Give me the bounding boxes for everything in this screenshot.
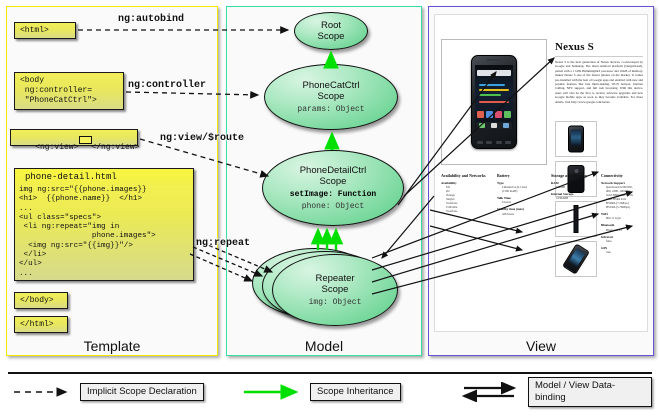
- thumbnail-phone-angled[interactable]: [555, 241, 597, 277]
- legend-label-inheritance: Scope Inheritance: [310, 383, 401, 401]
- spec-header-availability: Availability and Networks: [441, 173, 497, 178]
- spec-header-battery: Battery: [497, 173, 551, 178]
- spec-header-storage: Storage and Memory: [551, 173, 601, 178]
- screen-line-green: [479, 94, 501, 96]
- scope-member-setimage: setImage: Function: [290, 190, 376, 200]
- ngview-open-tag: <ng:view>: [35, 143, 78, 152]
- scope-root-title-2: Scope: [318, 31, 345, 42]
- edge-label-ng-repeat: ng:repeat: [196, 238, 250, 249]
- spec-value-ram: 512MB: [551, 185, 601, 189]
- legend-divider: [8, 372, 652, 374]
- legend-icon-dashed-arrow: [12, 382, 74, 402]
- phone-screen: [475, 65, 513, 129]
- screen-line-blue: [479, 84, 505, 86]
- legend-label-databinding: Model / View Data-binding: [528, 377, 652, 407]
- spec-value-gps: true: [601, 250, 647, 254]
- scope-root-title-1: Root: [321, 20, 341, 31]
- phone-hardware-keys: [475, 140, 513, 145]
- scope-phonecatctrl-title-1: PhoneCatCtrl: [302, 80, 359, 91]
- spec-value-internal-storage: 16384MB: [551, 196, 601, 200]
- scope-member-phone: phone: Object: [302, 202, 364, 212]
- code-box-body-close: </body>: [14, 292, 68, 309]
- scope-phonedetailctrl-title-2: Scope: [320, 176, 347, 187]
- scope-member-img: img: Object: [309, 298, 362, 308]
- scope-repeater-title-1: Repeater: [315, 273, 354, 284]
- panel-label-template: Template: [6, 338, 218, 354]
- scope-phonecatctrl-title-2: Scope: [318, 91, 345, 102]
- screen-line-yellow: [479, 89, 509, 91]
- code-box-html-close: </html>: [14, 316, 68, 333]
- partial-filename: phone-detail.html: [15, 169, 193, 185]
- spec-header-connectivity: Connectivity: [601, 173, 647, 178]
- phone-illustration: [471, 55, 517, 149]
- legend-item-implicit: Implicit Scope Declaration: [12, 382, 204, 402]
- edge-label-ng-controller: ng:controller: [128, 80, 206, 91]
- view-title-divider: [555, 56, 643, 57]
- legend-item-databinding: Model / View Data-binding: [460, 382, 652, 402]
- phone-search-widget: [477, 70, 511, 76]
- phone-dock: [476, 122, 512, 129]
- ngview-close-tag: </ng:view>: [91, 143, 139, 152]
- spec-value-availability: M1O2OrangeSingtelVodafoneT-MobileVodafon…: [441, 185, 497, 213]
- spec-column-connectivity: Connectivity Network Support Quad-band G…: [601, 173, 647, 254]
- phone-speaker: [487, 59, 501, 61]
- thumbnail-phone-front[interactable]: [555, 121, 597, 157]
- scope-phonedetailctrl: PhoneDetailCtrl Scope setImage: Function…: [262, 150, 404, 226]
- spec-value-network-support: Quad-band GSM 850,900, 1800, 1900 Tri-ba…: [601, 185, 647, 209]
- legend-item-inheritance: Scope Inheritance: [242, 382, 401, 402]
- legend-icon-green-arrow: [242, 382, 304, 402]
- spec-value-standby: 428 hours: [497, 212, 551, 216]
- edge-label-ng-autobind: ng:autobind: [118, 14, 184, 25]
- phone-hero-image: [441, 39, 547, 165]
- panel-label-model: Model: [226, 338, 422, 354]
- partial-file-card: phone-detail.html img ng:src="{{phone.im…: [14, 168, 194, 281]
- diagram-canvas: <html> <body ng:controller= "PhoneCatCtr…: [0, 0, 660, 420]
- spec-value-battery-type: Lithium Ion (Li-Ion)(1500 mAH): [497, 185, 551, 193]
- scope-phonedetailctrl-title-1: PhoneDetailCtrl: [300, 165, 367, 176]
- scope-root: Root Scope: [294, 12, 368, 50]
- partial-source-code: img ng:src="{{phone.images}} <h1> {{phon…: [15, 185, 193, 280]
- code-box-html-open: <html>: [14, 22, 76, 39]
- scope-repeater: Repeater Scope img: Object: [272, 254, 398, 326]
- panel-label-view: View: [428, 338, 654, 354]
- legend-label-implicit: Implicit Scope Declaration: [80, 383, 204, 401]
- spec-column-battery: Battery Type Lithium Ion (Li-Ion)(1500 m…: [497, 173, 551, 216]
- scope-repeater-title-2: Scope: [322, 284, 349, 295]
- spec-value-wifi: 802.11 b/g/n: [601, 216, 647, 220]
- scope-member-params: params: Object: [297, 105, 364, 115]
- scope-phonecatctrl: PhoneCatCtrl Scope params: Object: [264, 64, 398, 130]
- view-rendered-page: Nexus S Nexus S is the next generation o…: [434, 14, 648, 332]
- view-phone-description: Nexus S is the next generation of Nexus …: [555, 60, 643, 104]
- screen-line-red: [479, 101, 509, 103]
- phone-app-icons: [477, 111, 511, 120]
- view-phone-title: Nexus S: [555, 41, 594, 53]
- spec-value-talk-time: 6 hours: [497, 200, 551, 204]
- code-box-body-open: <body ng:controller= "PhoneCatCtrl">: [14, 72, 124, 110]
- edge-label-ng-view-route: ng:view/$route: [160, 133, 244, 144]
- ngview-placeholder-box: [79, 136, 92, 144]
- spec-column-storage: Storage and Memory RAM 512MB Internal St…: [551, 173, 601, 200]
- phone-statusbar: [475, 65, 513, 69]
- code-box-ngview: <ng:view></ng:view>: [10, 129, 138, 146]
- legend: Implicit Scope Declaration Scope Inherit…: [8, 382, 652, 406]
- spec-value-infrared: false: [601, 239, 647, 243]
- thumbnail-phone-edge[interactable]: [555, 201, 597, 237]
- spec-column-availability: Availability and Networks Availability M…: [441, 173, 497, 213]
- spec-value-bluetooth: Bluetooth 2.1: [601, 228, 647, 232]
- legend-icon-double-arrow: [460, 382, 522, 402]
